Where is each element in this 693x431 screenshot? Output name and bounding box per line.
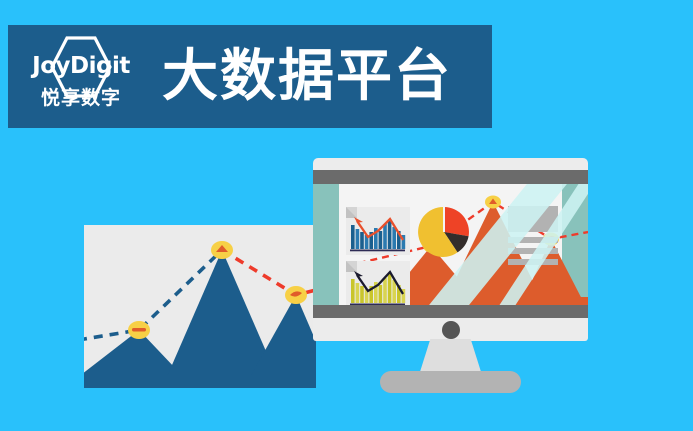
desktop-monitor <box>313 158 588 388</box>
chart-axis <box>350 304 405 306</box>
poster-canvas: JoyDigit 悦享数字 大数据平台 <box>0 0 693 431</box>
pie-chart[interactable] <box>417 205 471 259</box>
mountain-baseline <box>84 375 316 388</box>
data-point-marker <box>128 321 150 339</box>
logo-wordmark: JoyDigit <box>32 55 130 78</box>
left-mountain-panel <box>84 225 316 388</box>
pie-slice-b <box>444 207 469 236</box>
chart-axis <box>350 250 405 252</box>
bar-chart-olive[interactable] <box>346 261 410 305</box>
data-point-marker <box>485 196 501 209</box>
data-point-marker <box>211 241 233 259</box>
doc-row-line <box>508 248 558 254</box>
brand-logo: JoyDigit 悦享数字 <box>22 34 140 120</box>
area-mountain-chart-blue <box>84 225 316 388</box>
monitor-power-button[interactable] <box>442 321 460 339</box>
document-table-block[interactable] <box>508 206 558 265</box>
header-banner: JoyDigit 悦享数字 大数据平台 <box>8 25 492 128</box>
monitor-stand-neck <box>419 339 482 375</box>
bar-chart-blue[interactable] <box>346 207 410 255</box>
doc-row-line <box>508 237 558 243</box>
monitor-bottom-band <box>313 305 588 318</box>
orange-baseline <box>383 297 588 305</box>
page-title: 大数据平台 <box>162 49 452 105</box>
monitor-screen[interactable] <box>313 184 588 305</box>
doc-header-block <box>508 206 558 232</box>
doc-row-line <box>508 259 558 265</box>
logo-subtitle: 悦享数字 <box>41 89 121 108</box>
monitor-top-band <box>313 170 588 184</box>
monitor-stand-base <box>380 371 521 393</box>
data-point-marker <box>285 286 307 304</box>
